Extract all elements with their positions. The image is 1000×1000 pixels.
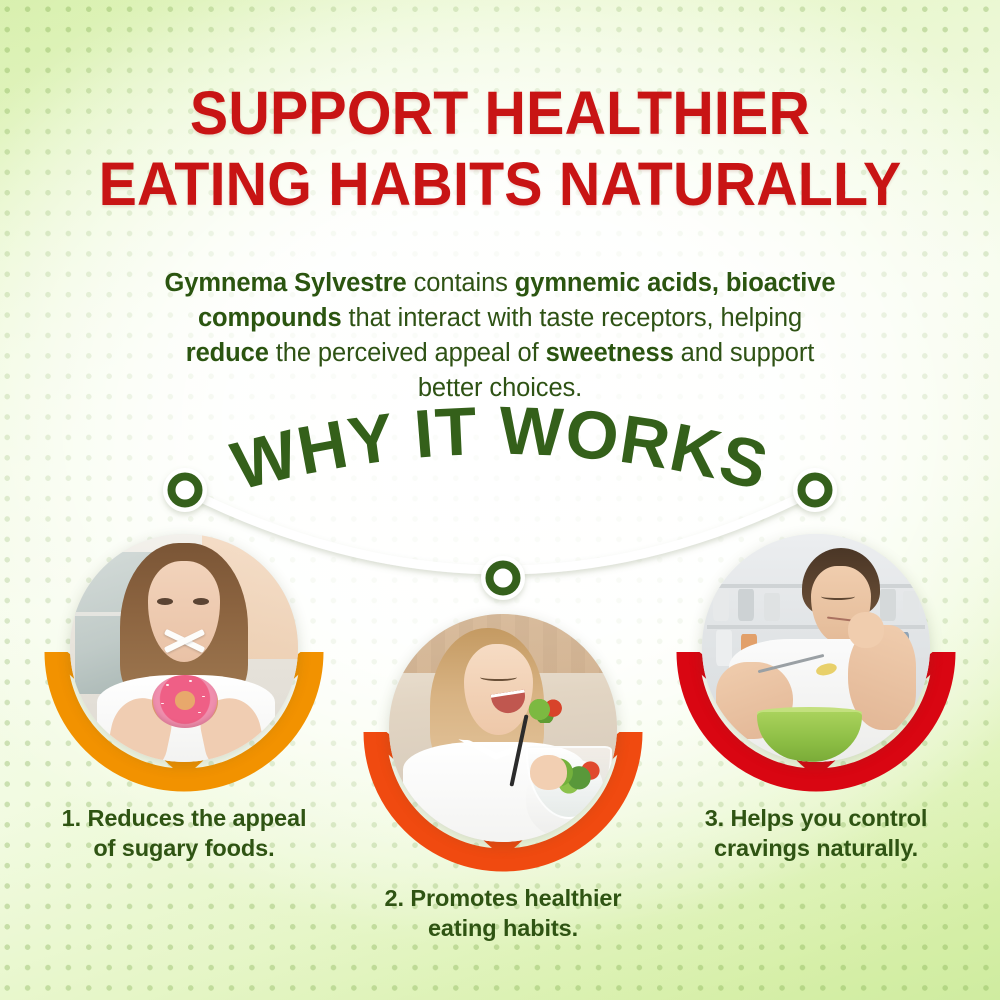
- step-1-caption-line-2: of sugary foods.: [34, 834, 334, 864]
- headline-line-2: EATING HABITS NATURALLY: [30, 149, 970, 220]
- page-title: SUPPORT HEALTHIER EATING HABITS NATURALL…: [30, 78, 970, 220]
- intro-text-run: [719, 269, 726, 297]
- intro-bold-run: reduce: [186, 339, 269, 367]
- step-3-caption: 3. Helps you control cravings naturally.: [666, 804, 966, 863]
- intro-bold-run: sweetness: [546, 339, 674, 367]
- step-2-caption-line-1: 2. Promotes healthier: [353, 884, 653, 914]
- infographic-poster: SUPPORT HEALTHIER EATING HABITS NATURALL…: [0, 0, 1000, 1000]
- step-1-caption-line-1: 1. Reduces the appeal: [34, 804, 334, 834]
- step-card-2: 2. Promotes healthier eating habits.: [353, 614, 653, 943]
- step-1-ring-wrap: [34, 534, 334, 794]
- banner-node-left: [163, 468, 207, 512]
- intro-text-run: that interact with taste receptors, help…: [342, 304, 803, 332]
- banner-node-right: [793, 468, 837, 512]
- step-card-1: 1. Reduces the appeal of sugary foods.: [34, 534, 334, 863]
- step-2-photo-scene: [389, 614, 617, 842]
- step-1-caption: 1. Reduces the appeal of sugary foods.: [34, 804, 334, 863]
- step-3-photo: [702, 534, 930, 762]
- banner-node-center: [481, 556, 525, 600]
- step-2-ring-wrap: [353, 614, 653, 874]
- intro-bold-run: gymnemic acids,: [515, 269, 719, 297]
- step-2-caption: 2. Promotes healthier eating habits.: [353, 884, 653, 943]
- headline-line-1: SUPPORT HEALTHIER: [190, 79, 810, 147]
- step-3-caption-line-2: cravings naturally.: [666, 834, 966, 864]
- step-1-photo: [70, 534, 298, 762]
- step-3-photo-scene: [702, 534, 930, 762]
- banner-title: WHY IT WORKS: [224, 400, 776, 505]
- step-3-ring-wrap: [666, 534, 966, 794]
- step-3-caption-line-1: 3. Helps you control: [666, 804, 966, 834]
- intro-text-run: the perceived appeal of: [269, 339, 546, 367]
- intro-bold-run: Gymnema Sylvestre: [165, 269, 407, 297]
- intro-paragraph: Gymnema Sylvestre contains gymnemic acid…: [160, 266, 840, 407]
- intro-text-run: contains: [407, 269, 515, 297]
- step-2-photo: [389, 614, 617, 842]
- step-2-caption-line-2: eating habits.: [353, 914, 653, 944]
- step-card-3: 3. Helps you control cravings naturally.: [666, 534, 966, 863]
- step-1-photo-scene: [70, 534, 298, 762]
